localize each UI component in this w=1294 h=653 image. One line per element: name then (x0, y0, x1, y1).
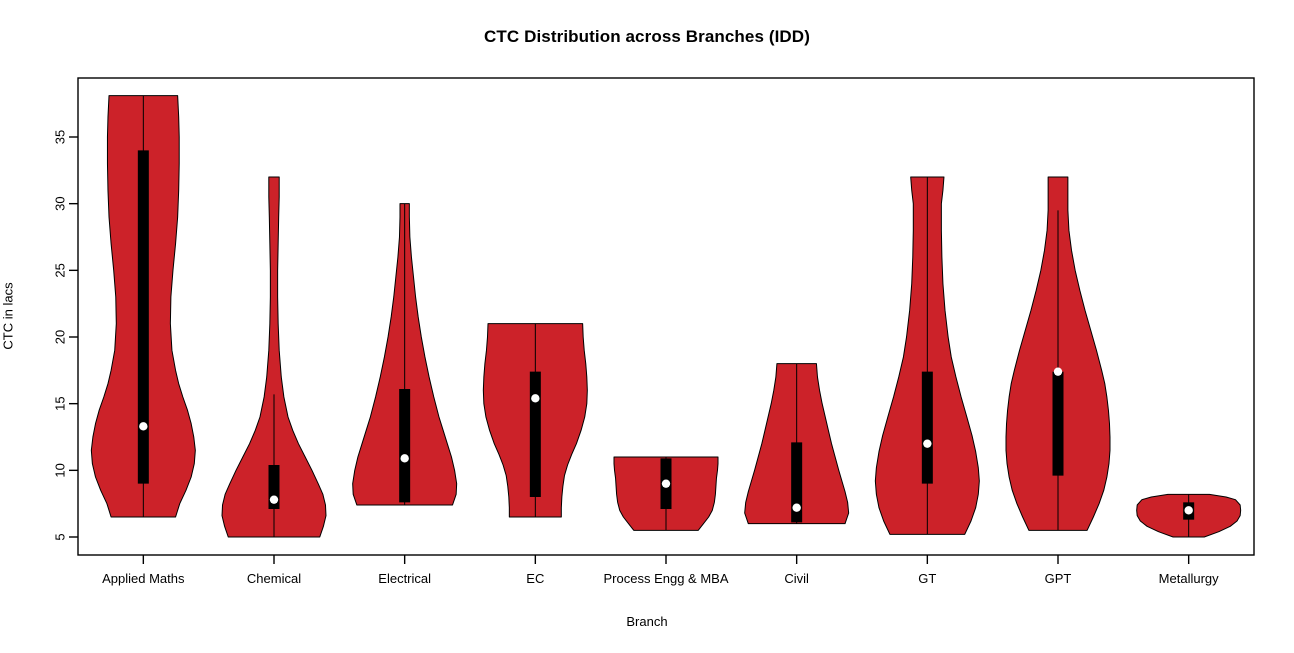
x-tick-label: GT (918, 571, 936, 586)
y-tick-label: 30 (52, 196, 67, 210)
x-tick-label: Electrical (378, 571, 431, 586)
median-point (792, 503, 800, 511)
violin-civil (745, 364, 849, 524)
violin-metallurgy (1137, 494, 1241, 537)
violin-gpt (1006, 177, 1110, 530)
violin-plot-figure: CTC Distribution across Branches (IDD) C… (0, 0, 1294, 653)
x-tick-label: GPT (1045, 571, 1072, 586)
median-point (400, 454, 408, 462)
median-point (923, 439, 931, 447)
median-point (1054, 367, 1062, 375)
plot-canvas: 5101520253035Applied MathsChemicalElectr… (0, 0, 1294, 653)
violin-chemical (222, 177, 326, 537)
x-tick-label: Metallurgy (1159, 571, 1219, 586)
violin-electrical (353, 204, 457, 505)
y-tick-label: 5 (52, 533, 67, 540)
y-tick-label: 15 (52, 396, 67, 410)
y-tick-label: 25 (52, 263, 67, 277)
y-tick-label: 35 (52, 130, 67, 144)
violin-applied-maths (91, 96, 195, 517)
median-point (270, 495, 278, 503)
x-tick-label: Chemical (247, 571, 301, 586)
violin-process-engg-mba (614, 457, 718, 530)
x-tick-label: Civil (784, 571, 809, 586)
violins-layer (91, 96, 1240, 537)
median-point (1184, 506, 1192, 514)
x-tick-label: EC (526, 571, 544, 586)
median-point (531, 394, 539, 402)
violin-ec (483, 324, 587, 517)
y-tick-label: 20 (52, 330, 67, 344)
violin-gt (875, 177, 979, 534)
x-tick-label: Process Engg & MBA (604, 571, 729, 586)
median-point (662, 479, 670, 487)
x-tick-label: Applied Maths (102, 571, 185, 586)
median-point (139, 422, 147, 430)
y-tick-label: 10 (52, 463, 67, 477)
